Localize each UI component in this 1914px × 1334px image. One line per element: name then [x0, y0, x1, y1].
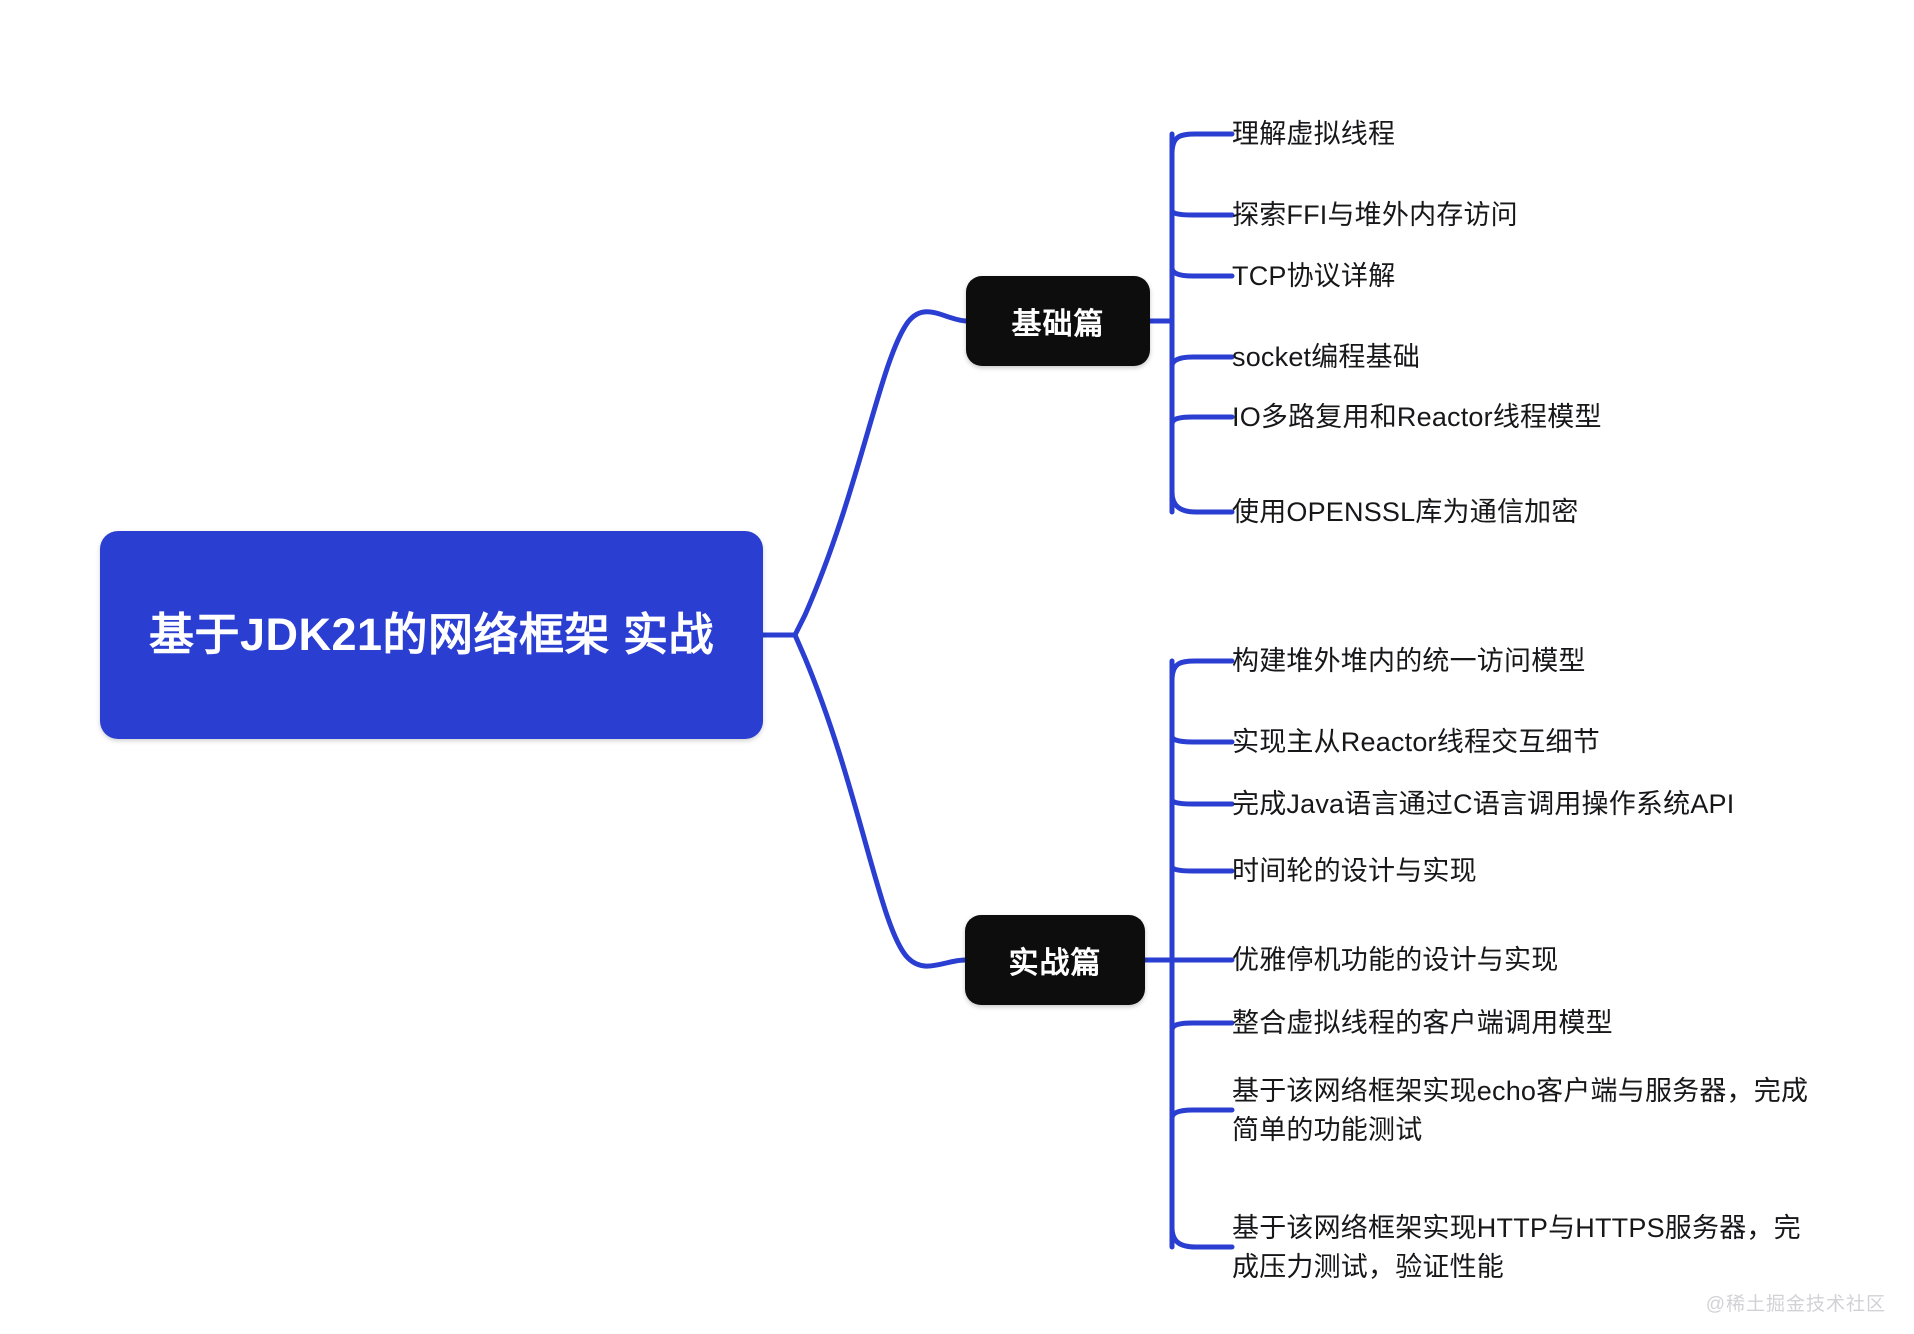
leaf-connector-1-1 — [1172, 736, 1232, 742]
leaf-connector-1-2 — [1172, 799, 1232, 804]
leaf-node[interactable]: IO多路复用和Reactor线程模型 — [1232, 398, 1602, 437]
leaf-node[interactable]: 实现主从Reactor线程交互细节 — [1232, 723, 1600, 762]
leaf-node[interactable]: TCP协议详解 — [1232, 257, 1395, 296]
leaf-node[interactable]: 整合虚拟线程的客户端调用模型 — [1232, 1004, 1613, 1043]
leaf-connector-0-4 — [1172, 417, 1232, 424]
branch-node-practice[interactable]: 实战篇 — [965, 915, 1145, 1005]
leaf-connector-1-0 — [1172, 661, 1232, 681]
leaf-connector-1-7 — [1172, 1227, 1232, 1247]
branch-node-basics[interactable]: 基础篇 — [966, 276, 1150, 366]
leaf-connector-0-2 — [1172, 268, 1232, 276]
leaf-connector-0-5 — [1172, 492, 1232, 512]
leaf-node[interactable]: 完成Java语言通过C语言调用操作系统API — [1232, 785, 1734, 824]
leaf-node[interactable]: 探索FFI与堆外内存访问 — [1232, 196, 1518, 235]
watermark: @稀土掘金技术社区 — [1706, 1289, 1886, 1316]
link-junction-branch-0 — [795, 312, 966, 635]
leaf-node[interactable]: 基于该网络框架实现echo客户端与服务器，完成 简单的功能测试 — [1232, 1072, 1808, 1151]
leaf-connector-1-5 — [1172, 1023, 1232, 1030]
leaf-node[interactable]: 使用OPENSSL库为通信加密 — [1232, 493, 1579, 532]
branch-node-label: 实战篇 — [1009, 938, 1102, 982]
branch-node-label: 基础篇 — [1012, 299, 1105, 343]
leaf-connector-1-6 — [1172, 1110, 1232, 1118]
leaf-node[interactable]: 构建堆外堆内的统一访问模型 — [1232, 642, 1586, 681]
root-node[interactable]: 基于JDK21的网络框架 实战 — [100, 531, 763, 739]
leaf-connector-0-0 — [1172, 134, 1232, 154]
mindmap-canvas: 基于JDK21的网络框架 实战 基础篇 实战篇 理解虚拟线程 探索FFI与堆外内… — [0, 0, 1914, 1334]
leaf-node[interactable]: 理解虚拟线程 — [1232, 115, 1395, 154]
leaf-connector-1-3 — [1172, 866, 1232, 871]
leaf-node[interactable]: 时间轮的设计与实现 — [1232, 852, 1477, 891]
leaf-node[interactable]: socket编程基础 — [1232, 338, 1420, 377]
link-junction-branch-1 — [795, 635, 965, 966]
leaf-node[interactable]: 基于该网络框架实现HTTP与HTTPS服务器，完 成压力测试，验证性能 — [1232, 1209, 1801, 1288]
leaf-connector-0-1 — [1172, 210, 1232, 215]
leaf-node[interactable]: 优雅停机功能的设计与实现 — [1232, 941, 1558, 980]
leaf-connector-0-3 — [1172, 357, 1232, 366]
root-node-label: 基于JDK21的网络框架 实战 — [149, 605, 714, 665]
